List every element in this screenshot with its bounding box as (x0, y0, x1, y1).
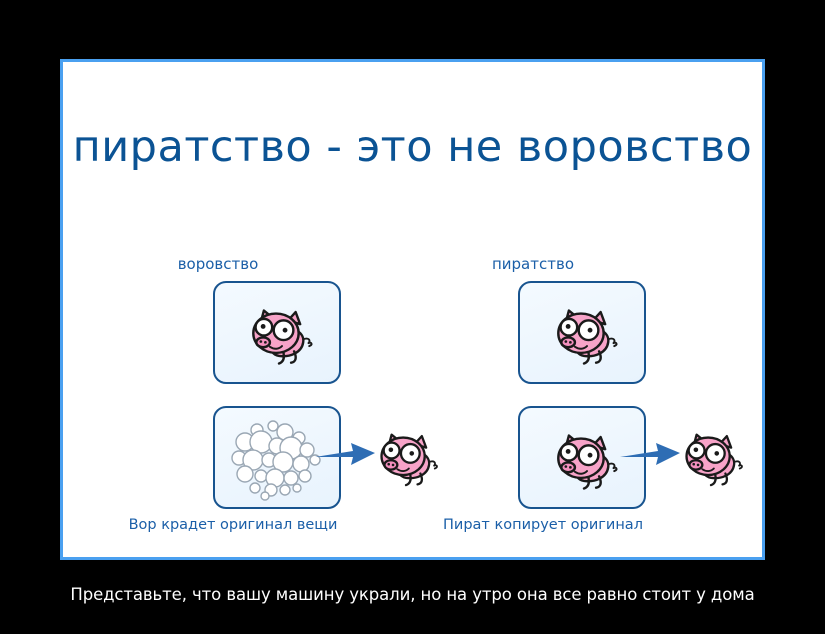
poster-caption: Представьте, что вашу машину украли, но … (0, 585, 825, 604)
column-heading-piracy: пиратство (408, 255, 658, 273)
demotivator-frame: пиратство - это не воровство воровство (60, 59, 765, 560)
column-heading-theft: воровство (93, 255, 343, 273)
pig-icon (241, 303, 317, 365)
page-title: пиратство - это не воровство (63, 119, 762, 175)
column-caption-theft: Вор крадет оригинал вещи (93, 517, 373, 533)
theft-before-box (213, 281, 341, 384)
column-theft: воровство (93, 255, 403, 555)
column-caption-piracy: Пират копирует оригинал (403, 517, 683, 533)
pig-icon (675, 427, 747, 487)
pig-icon (546, 303, 622, 365)
pig-icon (546, 428, 622, 490)
piracy-before-box (518, 281, 646, 384)
column-piracy: пиратство (398, 255, 708, 555)
flow-arrow-icon (315, 437, 377, 471)
flow-arrow-icon (620, 437, 682, 471)
comparison-diagram: воровство (63, 255, 762, 555)
